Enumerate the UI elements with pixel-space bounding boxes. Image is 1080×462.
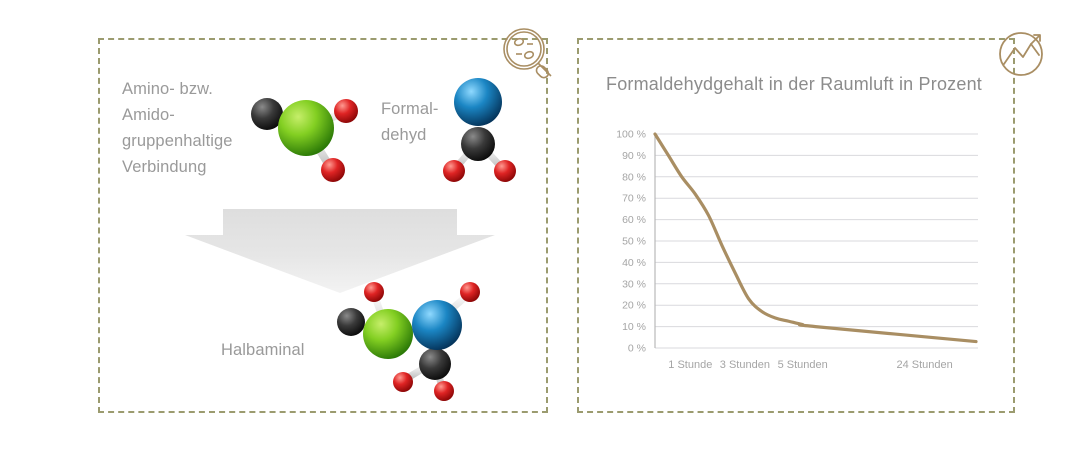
formaldehyde-decay-chart: 100 %90 %80 %70 %60 %50 %40 %30 %20 %10 … (598, 120, 998, 382)
y-axis-tick-label: 80 % (622, 171, 646, 183)
y-axis-tick-label: 20 % (622, 300, 646, 312)
trend-chart-icon (991, 22, 1055, 86)
chart-x-axis: 1 Stunde3 Stunden5 Stunden24 Stunden (668, 359, 952, 371)
screenshot-root: Amino- bzw. Amido- gruppenhaltige Verbin… (0, 0, 1080, 462)
x-axis-tick-label: 5 Stunden (778, 359, 828, 371)
down-arrow-icon (185, 209, 495, 293)
y-axis-tick-label: 30 % (622, 278, 646, 290)
x-axis-tick-label: 24 Stunden (896, 359, 952, 371)
y-axis-tick-label: 0 % (628, 343, 646, 355)
chart-gridlines (655, 134, 978, 348)
y-axis-tick-label: 100 % (616, 129, 646, 141)
y-axis-tick-label: 70 % (622, 193, 646, 205)
x-axis-tick-label: 3 Stunden (720, 359, 770, 371)
chart-canvas: 100 %90 %80 %70 %60 %50 %40 %30 %20 %10 … (598, 120, 998, 382)
y-axis-tick-label: 10 % (622, 321, 646, 333)
chart-series-line (655, 134, 976, 342)
y-axis-tick-label: 40 % (622, 257, 646, 269)
chart-y-axis: 100 %90 %80 %70 %60 %50 %40 %30 %20 %10 … (616, 129, 646, 355)
amine-molecule (240, 74, 370, 190)
y-axis-tick-label: 50 % (622, 236, 646, 248)
halbaminal-molecule (330, 276, 498, 402)
formaldehyde-molecule (437, 70, 523, 188)
y-axis-tick-label: 60 % (622, 214, 646, 226)
y-axis-tick-label: 90 % (622, 150, 646, 162)
chart-title: Formaldehydgehalt in der Raumluft in Pro… (606, 74, 982, 95)
x-axis-tick-label: 1 Stunde (668, 359, 712, 371)
